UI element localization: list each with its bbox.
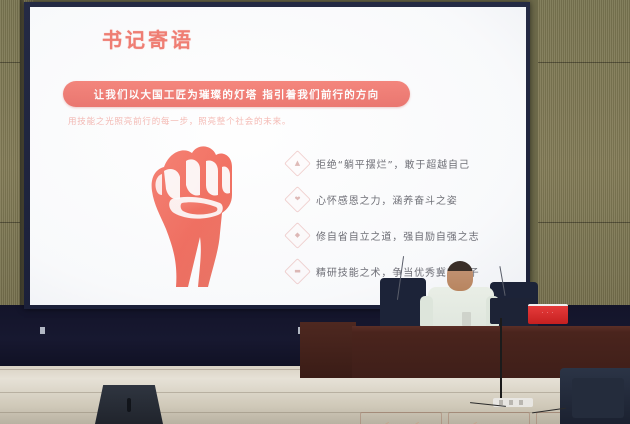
- wall-seam: [538, 222, 630, 223]
- name-plate: · · ·: [528, 304, 568, 324]
- bullet-text: 拒绝“躺平摆烂”，敢于超越自己: [316, 156, 470, 171]
- wall-seam: [538, 62, 630, 63]
- bullet-text: 心怀感恩之力，涵养奋斗之姿: [316, 192, 458, 207]
- wall-outlet: [40, 327, 45, 334]
- bullet-text: 修自省自立之道，强自励自强之志: [316, 228, 480, 243]
- slide-banner-text: 让我们以大国工匠为璀璨的灯塔 指引着我们前行的方向: [94, 87, 380, 102]
- floor-seam: [0, 392, 630, 393]
- floor-speaker-grille: [572, 378, 624, 418]
- podium-side-panel: [300, 322, 356, 378]
- power-cable: [500, 318, 502, 400]
- podium-area: · · ·: [352, 252, 630, 372]
- seated-presenter-head: [447, 261, 473, 291]
- stage-monitor-handle: [127, 398, 131, 412]
- diamond-book-icon: ▬: [284, 258, 311, 285]
- presenter-arm: [420, 296, 433, 330]
- slide-title: 书记寄语: [102, 24, 194, 53]
- list-item: ▲ 拒绝“躺平摆烂”，敢于超越自己: [288, 145, 518, 181]
- list-item: ◆ 修自省自立之道，强自励自强之志: [288, 217, 518, 253]
- drinking-cup: [462, 312, 471, 326]
- list-item: ❤ 心怀感恩之力，涵养奋斗之姿: [288, 181, 518, 217]
- diamond-torch-icon: ▲: [284, 150, 311, 177]
- raised-fist-illustration: [126, 137, 256, 287]
- podium-panel: [360, 412, 442, 424]
- name-plate-text: · · ·: [528, 310, 568, 316]
- presentation-room-scene: 书记寄语 让我们以大国工匠为璀璨的灯塔 指引着我们前行的方向 用技能之光照亮前行…: [0, 0, 630, 424]
- slide-subtitle: 用技能之光照亮前行的每一步，照亮整个社会的未来。: [68, 115, 291, 127]
- podium-panel: [448, 412, 530, 424]
- diamond-shield-icon: ◆: [284, 222, 311, 249]
- diamond-heart-icon: ❤: [284, 186, 311, 213]
- slide-banner: 让我们以大国工匠为璀璨的灯塔 指引着我们前行的方向: [63, 81, 410, 107]
